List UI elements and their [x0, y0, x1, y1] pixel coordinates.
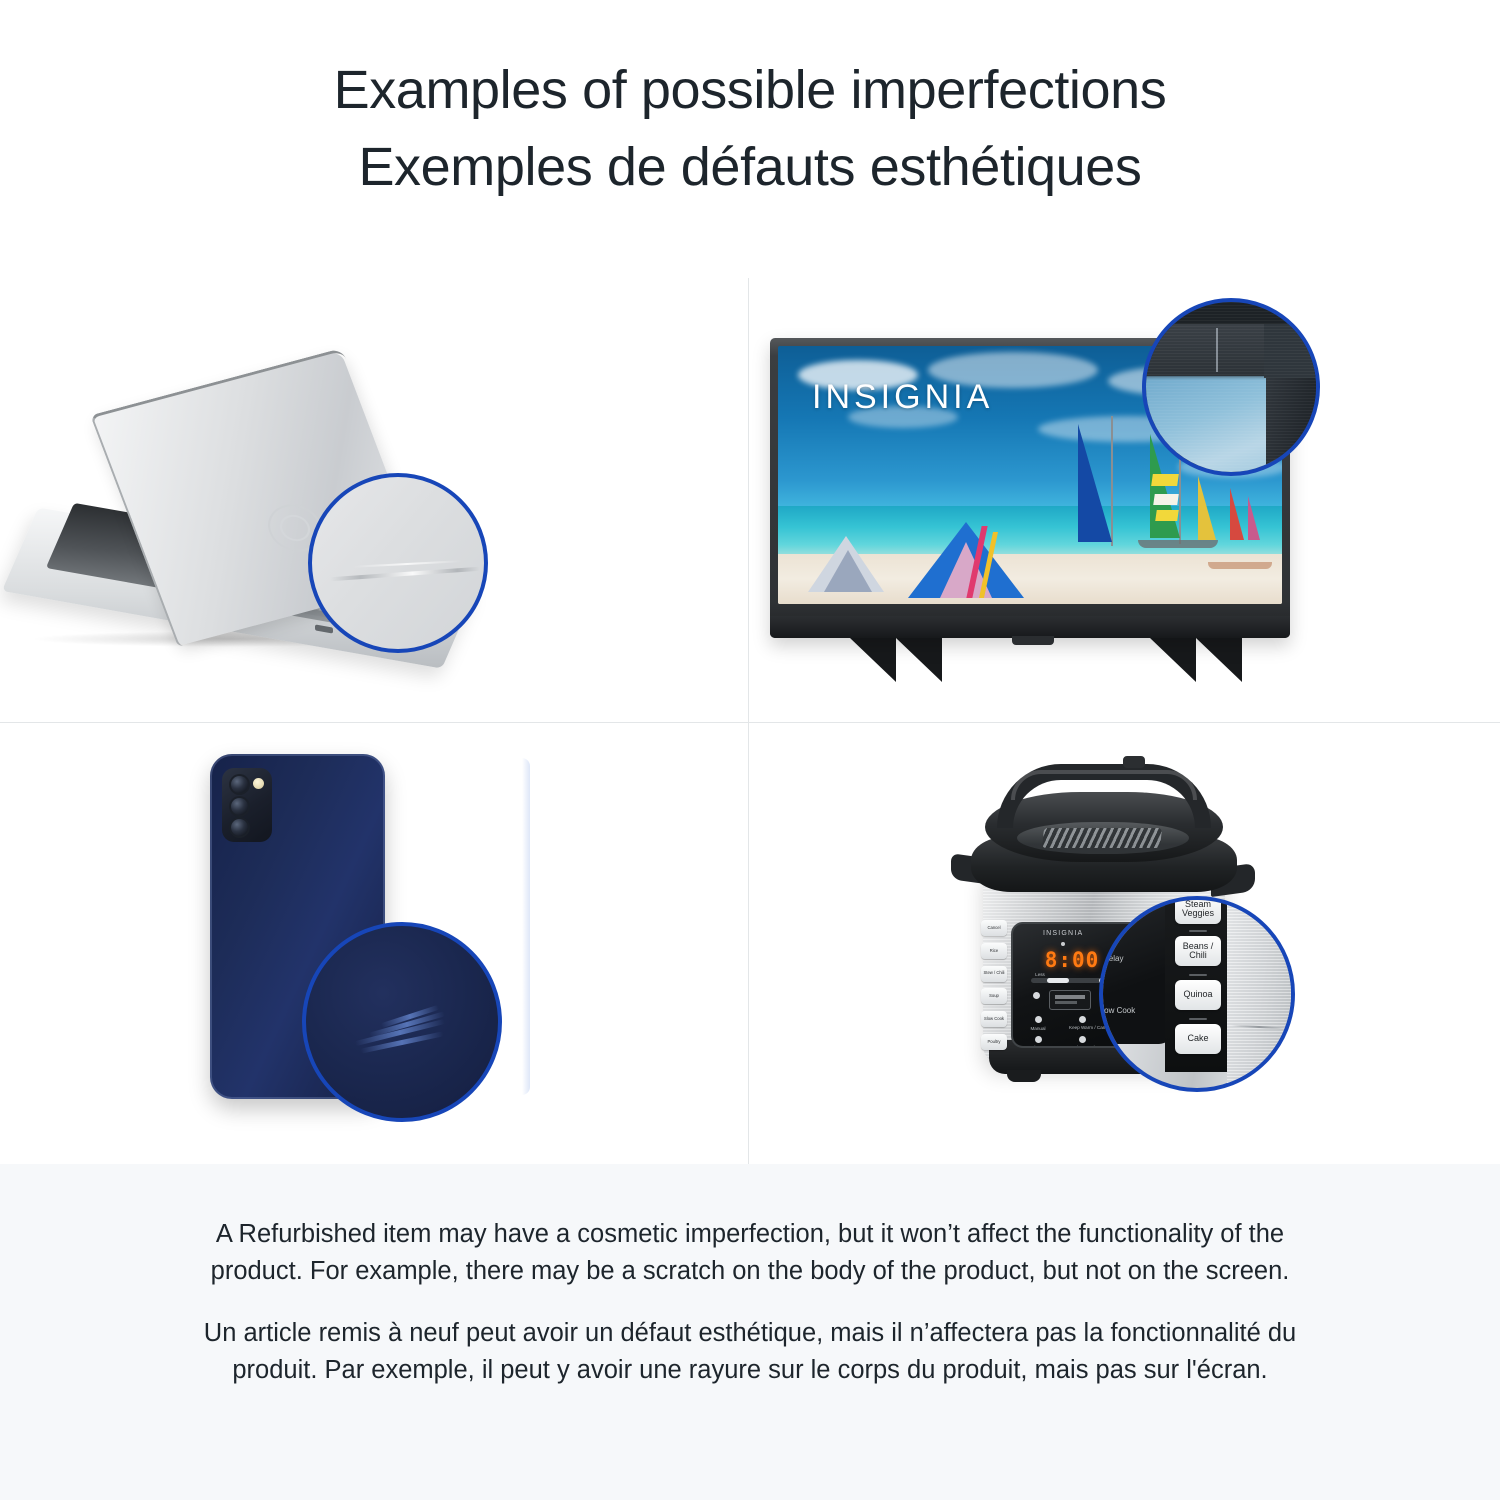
cooker-key-label-shape: Shape	[1023, 1045, 1053, 1048]
panel-pressure-cooker: Cancel Rice Stew / Chili Soup Slow Cook …	[750, 724, 1498, 1168]
laptop-scratch-mark	[330, 567, 480, 581]
laptop-illustration	[20, 373, 540, 663]
magnifier-circle-laptop	[308, 473, 488, 653]
cooker-button-poultry[interactable]: Poultry	[981, 1034, 1007, 1050]
cooker-handle-highlight	[1011, 770, 1197, 800]
cooker-lcd-display: 8:00	[1041, 948, 1103, 972]
magnifier-circle-pressure-cooker: Steam Veggies Beans / Chili Quinoa Cake …	[1099, 896, 1295, 1092]
cooker-slider-label-less: Less	[1029, 972, 1051, 978]
tv-brand-logo: INSIGNIA	[812, 378, 993, 417]
camera-lens-icon	[231, 776, 248, 793]
cooker-zoom-panel	[1099, 896, 1173, 1044]
panel-television: INSIGNIA	[750, 278, 1498, 722]
cooker-key-keep-warm[interactable]	[1079, 1016, 1086, 1023]
cooker-button-stew-chili[interactable]: Stew / Chili	[981, 966, 1007, 982]
tv-zoom-grain	[1146, 302, 1316, 472]
camera-lens-icon	[231, 798, 248, 815]
cooker-pressure-slider-segment	[1047, 978, 1069, 983]
phone-edge-highlight	[522, 758, 530, 1095]
cooker-secondary-display	[1049, 990, 1091, 1010]
product-examples-grid: INSIGNIA	[0, 278, 1500, 1164]
cooker-zoom-separator	[1189, 1018, 1207, 1020]
cooker-key-manual[interactable]	[1035, 1016, 1042, 1023]
cooker-button-soup[interactable]: Soup	[981, 988, 1007, 1004]
cooker-zoom-button-cake[interactable]: Cake	[1175, 1024, 1221, 1054]
cooker-zoom-steel-surface	[1227, 896, 1295, 1092]
tv-beach-tent	[824, 550, 872, 592]
smartphone-illustration	[180, 754, 560, 1144]
tv-boat-hull	[1138, 540, 1218, 548]
cooker-key-slow-cook[interactable]	[1079, 1036, 1086, 1043]
disclaimer-english: A Refurbished item may have a cosmetic i…	[185, 1216, 1315, 1289]
panel-smartphone	[0, 724, 748, 1168]
title-line-english: Examples of possible imperfections	[0, 52, 1500, 129]
title-line-french: Exemples de défauts esthétiques	[0, 129, 1500, 206]
tv-leg-left-b	[888, 638, 942, 682]
tv-bottom-bezel	[770, 616, 1290, 638]
camera-lens-icon	[231, 819, 248, 836]
laptop-scratch-mark-secondary	[352, 560, 462, 568]
disclaimer-section: A Refurbished item may have a cosmetic i…	[0, 1164, 1500, 1500]
tv-sail-magenta	[1248, 496, 1260, 540]
cooker-button-cancel[interactable]: Cancel	[981, 920, 1007, 936]
tv-sail-blue	[1078, 424, 1112, 542]
grid-horizontal-divider	[0, 722, 1500, 723]
cooker-zoom-button-beans-chili[interactable]: Beans / Chili	[1175, 936, 1221, 966]
television-illustration: INSIGNIA	[770, 298, 1370, 698]
cooker-foot	[1007, 1070, 1041, 1082]
tv-sail-stripe	[1151, 474, 1179, 486]
cooker-key-label-keep-warm: Keep Warm / Cancel	[1069, 1025, 1101, 1031]
cooker-brand-logo: INSIGNIA	[1043, 930, 1083, 937]
tv-sail-stripe	[1155, 510, 1179, 521]
cooker-zoom-separator	[1189, 930, 1207, 932]
phone-camera-module	[222, 768, 272, 842]
tv-leg-right-b	[1188, 638, 1242, 682]
cooker-key-label-manual: Manual	[1023, 1026, 1053, 1032]
cooker-zoom-label-delay: Delay	[1103, 954, 1123, 963]
cooker-lid-vent-grill	[1042, 828, 1162, 848]
disclaimer-french: Un article remis à neuf peut avoir un dé…	[185, 1315, 1315, 1388]
magnifier-circle-smartphone	[302, 922, 502, 1122]
cooker-zoom-label-slow-cook: Slow Cook	[1099, 1006, 1135, 1015]
cooker-zoom-button-quinoa[interactable]: Quinoa	[1175, 980, 1221, 1010]
cooker-button-slow-cook[interactable]: Slow Cook	[981, 1011, 1007, 1027]
tv-boat-hull	[1208, 562, 1272, 569]
cooker-left-button-column[interactable]: Cancel Rice Stew / Chili Soup Slow Cook …	[981, 920, 1007, 1050]
magnifier-circle-television	[1142, 298, 1320, 476]
tv-sail-yellow	[1198, 476, 1216, 540]
cooker-button-rice[interactable]: Rice	[981, 943, 1007, 959]
tv-sail-stripe	[1153, 494, 1179, 505]
tv-sail-red	[1230, 488, 1244, 540]
page-title: Examples of possible imperfections Exemp…	[0, 52, 1500, 205]
pressure-cooker-illustration: Cancel Rice Stew / Chili Soup Slow Cook …	[945, 744, 1345, 1144]
tv-center-tab	[1012, 636, 1054, 645]
grid-vertical-divider	[748, 278, 749, 1164]
cooker-minus-button[interactable]	[1033, 992, 1040, 999]
cooker-key-shape[interactable]	[1035, 1036, 1042, 1043]
panel-laptop	[0, 278, 748, 722]
cooker-zoom-separator	[1189, 974, 1207, 976]
camera-flash-icon	[253, 778, 264, 789]
cooker-key-label-slow-cook: Slow Cook	[1069, 1045, 1101, 1048]
cooker-power-indicator-icon	[1061, 942, 1065, 946]
refurbished-imperfections-infographic: Examples of possible imperfections Exemp…	[0, 0, 1500, 1500]
cooker-zoom-button-steam-veggies[interactable]: Steam Veggies	[1175, 896, 1221, 924]
cooker-steam-valve	[1123, 756, 1145, 768]
